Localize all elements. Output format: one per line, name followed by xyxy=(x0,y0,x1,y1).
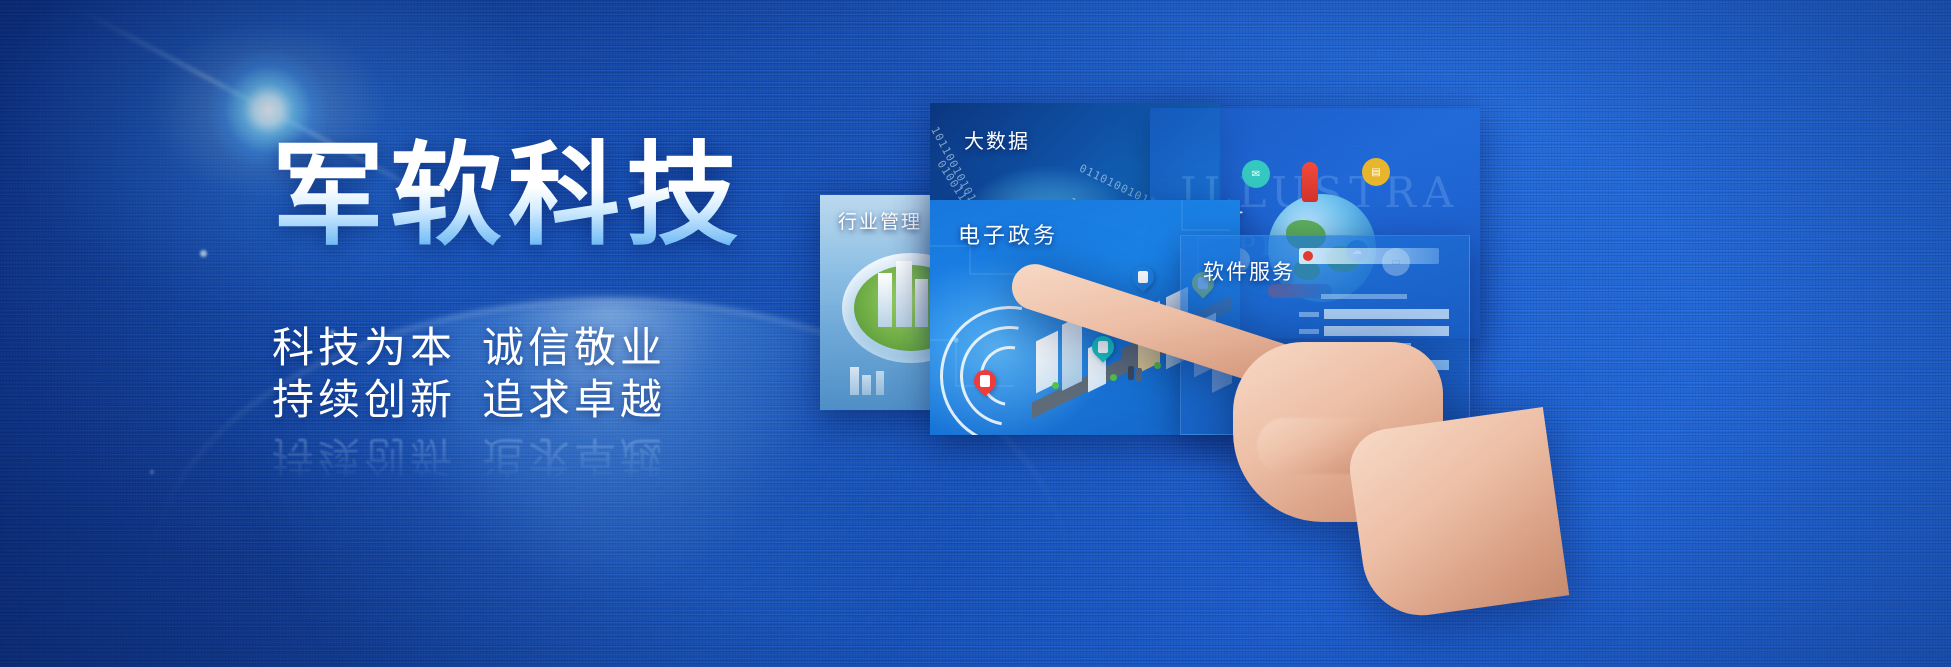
sparkle-icon xyxy=(150,470,154,474)
slogan-block: 科技为本诚信敬业 持续创新追求卓越 xyxy=(272,322,666,426)
hero-banner: 军软科技 科技为本诚信敬业 持续创新追求卓越 持续创新追求卓越 行业管理 xyxy=(0,0,1951,667)
rocket-icon xyxy=(1302,162,1318,202)
panel-software-caption: 软件服务 xyxy=(1203,256,1295,286)
tree-icon xyxy=(1110,374,1117,381)
sparkle-icon xyxy=(200,250,207,257)
brand-title: 军软科技 xyxy=(272,138,744,254)
slogan-reflection: 持续创新追求卓越 xyxy=(272,430,666,482)
slogan-line-2: 持续创新追求卓越 xyxy=(272,374,666,426)
slogan-1-left: 科技为本 xyxy=(272,323,456,372)
panel-software-service[interactable]: 软件服务 xyxy=(1180,235,1470,435)
tree-icon xyxy=(1154,362,1161,369)
password-field[interactable] xyxy=(1324,326,1449,336)
slogan-1-right: 诚信敬业 xyxy=(482,323,666,372)
map-pin-red-icon xyxy=(969,365,1000,396)
slogan-line-1: 科技为本诚信敬业 xyxy=(272,322,666,374)
captcha-image[interactable] xyxy=(1381,343,1411,353)
person-figure xyxy=(1136,368,1142,381)
building-icon xyxy=(850,367,859,395)
building-icon xyxy=(876,371,884,395)
map-pin-blue-icon xyxy=(1127,261,1158,292)
form-label xyxy=(1299,312,1319,317)
panel-bigdata-caption: 大数据 xyxy=(964,125,1030,154)
building-icon xyxy=(896,261,912,327)
slogan-2-left: 持续创新 xyxy=(272,375,456,424)
form-label xyxy=(1299,329,1319,334)
reflection-right: 追求卓越 xyxy=(482,432,666,481)
reflection-left: 持续创新 xyxy=(272,432,456,481)
brand-dot-icon xyxy=(1303,251,1313,261)
captcha-field[interactable] xyxy=(1324,343,1376,353)
brand-logo-bar xyxy=(1299,248,1439,264)
document-icon: ▤ xyxy=(1362,158,1390,186)
building-icon xyxy=(862,375,871,395)
building-icon xyxy=(878,273,892,327)
brand-title-text: 军软科技 xyxy=(272,138,744,254)
form-footnote xyxy=(1313,384,1423,388)
building-icon xyxy=(1062,315,1082,391)
floating-panel-stage: 行业管理 1011001010110010101100101011 010011… xyxy=(980,60,1860,620)
chat-bubble-icon: ✉ xyxy=(1242,160,1270,188)
panel-egov-caption: 电子政务 xyxy=(958,218,1058,250)
form-label xyxy=(1299,346,1319,351)
tree-icon xyxy=(1052,382,1059,389)
username-field[interactable] xyxy=(1324,309,1449,319)
slogan-2-right: 追求卓越 xyxy=(482,375,666,424)
panel-industry-caption: 行业管理 xyxy=(838,207,922,234)
login-form-mock[interactable] xyxy=(1299,294,1449,388)
login-button[interactable] xyxy=(1419,360,1449,370)
form-title-bar xyxy=(1321,294,1407,299)
building-icon xyxy=(915,279,928,327)
person-figure xyxy=(1128,366,1134,380)
